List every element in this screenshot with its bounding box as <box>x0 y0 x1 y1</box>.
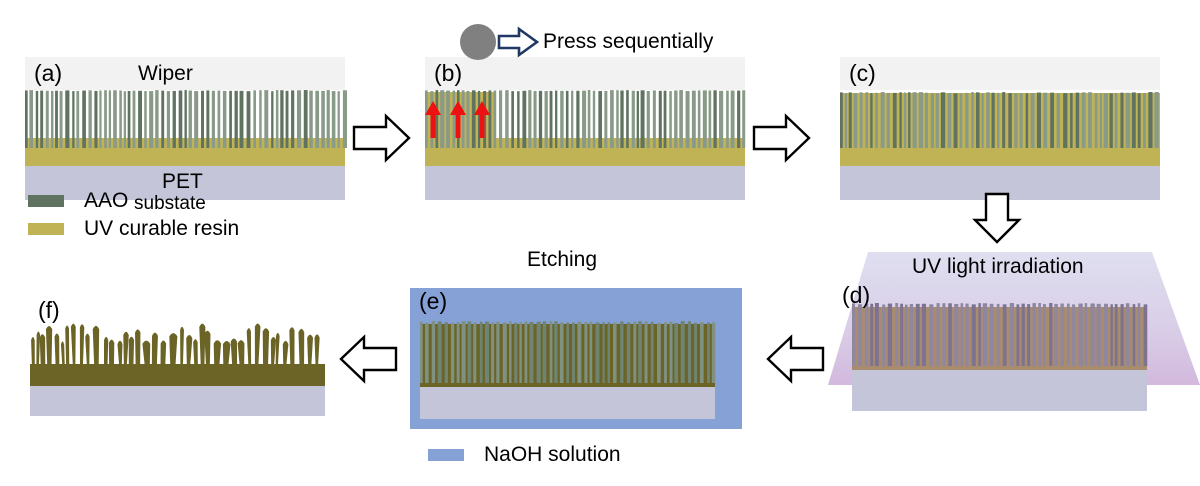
panel-a-pet-label: PET <box>162 171 203 192</box>
panel-c-resin-layer <box>840 148 1160 166</box>
panel-b-wiper-band <box>425 57 745 90</box>
legend-label-naoh: NaOH solution <box>484 444 621 465</box>
etching-label: Etching <box>527 249 597 270</box>
panel-e-pet-layer <box>420 387 715 419</box>
legend-swatch-resin <box>28 223 64 235</box>
panel-b-pet-layer <box>425 166 745 200</box>
arrow-a-to-b <box>352 113 412 163</box>
panel-c-wiper-band <box>840 57 1160 90</box>
panel-f-pet-layer <box>30 386 325 416</box>
arrow-b-to-c <box>752 113 812 163</box>
press-sequentially-label: Press sequentially <box>543 31 713 52</box>
panel-b-tag: (b) <box>434 62 462 85</box>
panel-e-tag: (e) <box>419 290 447 313</box>
panel-d-pet-layer <box>852 370 1147 411</box>
panel-d-aao-walls <box>852 303 1147 370</box>
uv-light-irradiation-label: UV light irradiation <box>912 255 1084 279</box>
press-roller <box>460 24 496 60</box>
panel-c-tag: (c) <box>849 62 876 85</box>
panel-c: (c) <box>840 57 1160 180</box>
panel-b-fill-direction-arrows <box>425 90 745 148</box>
legend-label-resin: UV curable resin <box>84 218 239 239</box>
legend-label-aao: AAO <box>84 190 128 211</box>
panel-d: (d) <box>852 293 1147 411</box>
panel-b: (b) <box>425 57 745 180</box>
panel-a-aao-walls <box>25 90 345 148</box>
panel-f-cured-resin-base <box>30 364 325 386</box>
legend-sublabel-aao: substate <box>134 193 206 215</box>
panel-a: (a) Wiper PET <box>25 57 345 180</box>
legend-swatch-naoh <box>428 449 464 461</box>
panel-e-sample <box>420 321 715 419</box>
arrow-e-to-f <box>338 334 398 384</box>
panel-e-aao-walls-dissolving <box>420 321 715 387</box>
arrow-d-to-e <box>765 334 825 384</box>
panel-c-aao-walls <box>840 90 1160 148</box>
panel-f-nanopillar-array <box>30 318 325 368</box>
panel-d-tag: (d) <box>842 284 870 307</box>
panel-a-wiper-label: Wiper <box>138 63 193 84</box>
figure-canvas: (a) Wiper PET <box>0 0 1200 486</box>
legend-swatch-aao <box>28 195 64 207</box>
panel-a-resin-layer <box>25 148 345 166</box>
panel-a-tag: (a) <box>34 62 62 85</box>
panel-e-naoh-bath: (e) <box>410 288 742 429</box>
arrow-c-to-d <box>972 192 1022 244</box>
press-direction-arrow-icon <box>497 27 539 57</box>
panel-f: (f) <box>30 300 325 405</box>
panel-b-resin-layer <box>425 148 745 166</box>
